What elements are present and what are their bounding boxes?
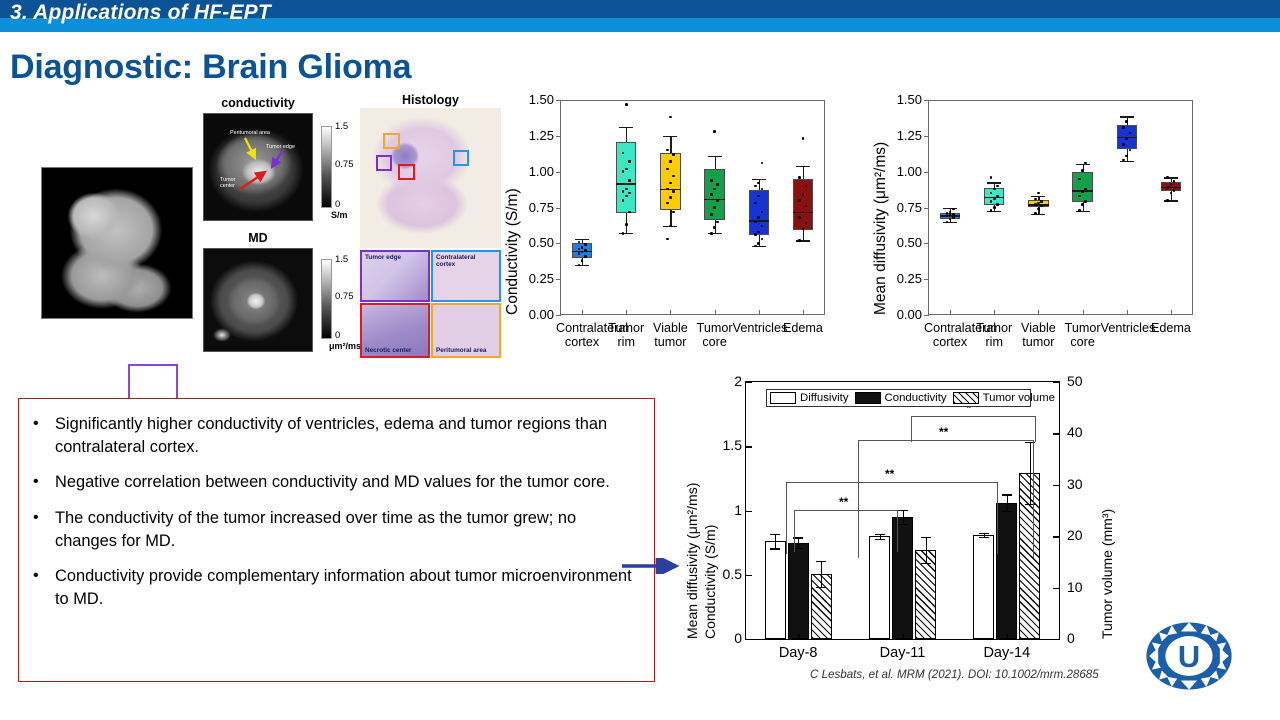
x-axis-tick [803,310,804,315]
y-axis-tick [556,100,561,101]
data-point [710,213,713,216]
bar-y-left-tick [746,446,752,447]
bar-y-right-tick [1053,485,1059,486]
histology-image [360,108,501,248]
md-map-image [203,248,313,352]
t2-weighted-label: T₂ weighted [94,342,157,356]
data-point [757,216,760,219]
box [793,179,813,231]
error-bar-cap [816,587,826,588]
significance-bracket [911,416,1036,442]
data-point [757,231,760,234]
histology-inset-label-tumor-edge: Tumor edge [365,254,401,261]
data-point [1166,176,1169,179]
x-axis-tick [670,310,671,315]
histology-roi-tumor-edge [376,155,392,171]
whisker-cap [1120,161,1134,162]
data-point [625,188,628,191]
data-point [952,213,955,216]
histology-inset-label-necrotic: Necrotic center [365,347,412,354]
median-line [660,189,680,191]
y-axis-tick-label: 1.00 [512,164,554,179]
legend-swatch [855,392,881,404]
y-axis-tick-label: 0.75 [880,200,922,215]
bar-y-left-tick [746,511,752,512]
data-point [952,216,955,219]
error-bar [775,534,776,548]
data-point [622,199,625,202]
longitudinal-bar-chart: 00.511.5201020304050Day-8Day-11Day-14***… [745,381,1060,640]
bar-y-right-label: Tumor volume (mm³) [1099,509,1115,639]
box [704,169,724,221]
plot-frame [560,100,825,315]
data-point [1166,199,1169,202]
histology-inset-contralateral: Contralateral cortex [431,250,501,302]
error-bar-cap [816,561,826,562]
y-axis-tick-label: 1.50 [880,92,922,107]
y-axis-tick-label: 0.00 [880,307,922,322]
x-axis-tick [1038,310,1039,315]
histology-inset-label-peritumoral: Peritumoral area [436,347,486,354]
y-axis-tick-label: 0.50 [880,235,922,250]
y-axis-tick-label: 1.50 [512,92,554,107]
y-axis-tick-label: 0.25 [880,271,922,286]
bar-x-tick-label: Day-14 [955,645,1059,661]
x-axis-tick [582,310,583,315]
legend-label: Diffusivity [800,392,849,404]
data-point [990,209,993,212]
bullet-marker: • [33,413,55,458]
data-point [625,168,628,171]
data-point [672,190,675,193]
whisker-cap [619,127,633,128]
y-axis-tick [556,315,561,316]
key-findings-box: •Significantly higher conductivity of ve… [18,398,655,682]
y-axis-tick [556,208,561,209]
bullet-marker: • [33,471,55,494]
conductivity-colorbar-unit: S/m [331,210,348,220]
bar-y-left-tick-label: 0 [716,630,742,646]
data-point [584,255,587,258]
bar-y-right-tick [1053,536,1059,537]
data-point [1170,183,1173,186]
data-point [716,183,719,186]
data-point [713,188,716,191]
legend-label: Conductivity [885,392,947,404]
data-point [798,216,801,219]
error-bar [821,561,822,587]
y-axis-tick [924,243,929,244]
bar-y-right-tick [1053,639,1059,640]
bar-x-tick-label: Day-8 [746,645,850,661]
data-point [996,203,999,206]
bar-chart-legend: DiffusivityConductivityTumor volume [766,389,1031,407]
median-line [616,183,636,185]
bar-x-tick-label: Day-11 [850,645,954,661]
bar-y-right-tick-label: 20 [1067,527,1083,543]
bar-y-right-tick-label: 30 [1067,476,1083,492]
y-axis-tick-label: 0.50 [512,235,554,250]
legend-item: Tumor volume [953,392,1055,404]
bullet-item: •Negative correlation between conductivi… [33,471,640,494]
y-axis-tick [924,172,929,173]
bullet-text: Negative correlation between conductivit… [55,471,610,494]
md-colorbar [321,259,332,339]
callout-arrow [622,558,690,574]
whisker-cap [943,208,957,209]
data-point [757,242,760,245]
data-point [1081,169,1084,172]
data-point [628,211,631,214]
data-point [578,252,581,255]
data-point [798,176,801,179]
conductivity-map-image: Peritumoral area Tumor edge Tumor center [203,113,313,221]
data-point [669,196,672,199]
data-point [1034,198,1037,201]
y-axis-tick [556,172,561,173]
x-axis-tick-label: Edema [1145,321,1197,335]
data-point [1125,137,1128,140]
data-point [1040,200,1043,203]
box [616,142,636,214]
data-point [754,221,757,224]
data-point [1166,186,1169,189]
data-point [669,160,672,163]
conductivity-colorbar-min: 0 [335,199,340,210]
median-line [749,220,769,222]
svg-text:U: U [1178,639,1200,674]
whisker-cap [987,182,1001,183]
data-point [716,221,719,224]
data-point [1122,143,1125,146]
y-axis-tick-label: 1.25 [880,128,922,143]
bar [788,543,809,639]
data-point [798,199,801,202]
y-axis-tick [556,243,561,244]
y-axis-tick [924,136,929,137]
bullet-marker: • [33,507,55,552]
bar-y-right-tick [1053,382,1059,383]
data-point [628,160,631,163]
bar-y-right-tick [1053,433,1059,434]
bar-y-left-tick [746,382,752,383]
data-point [672,153,675,156]
conductivity-arrows [204,114,314,222]
whisker-cap [1031,196,1045,197]
plot-frame [928,100,1193,315]
data-point [622,232,625,235]
data-point [713,206,716,209]
bullet-marker: • [33,565,55,610]
x-axis-tick [994,310,995,315]
data-point [1078,209,1081,212]
whisker-cap [708,156,722,157]
data-point [1037,208,1040,211]
median-line [1028,204,1048,206]
y-axis-tick [556,136,561,137]
md-panel-caption: MD [203,231,313,245]
bar-x-tick [1007,634,1008,639]
median-line [1161,187,1181,189]
median-line [704,199,724,201]
histology-roi-peritumoral [383,133,400,149]
y-axis-tick-label: 0.00 [512,307,554,322]
bar-y-left-tick-label: 2 [716,373,742,389]
data-point [628,179,631,182]
y-axis-tick-label: 0.75 [512,200,554,215]
conductivity-colorbar-mid: 0.75 [335,159,354,170]
whisker-cap [663,136,677,137]
data-point [1081,190,1084,193]
legend-label: Tumor volume [983,392,1055,404]
bar-y-left-label-line2: Conductivity (S/m) [702,525,718,639]
data-point [1125,120,1128,123]
data-point [1034,203,1037,206]
data-point [625,103,628,106]
whisker-cap [575,239,589,240]
y-axis-tick-label: 0.25 [512,271,554,286]
data-point [754,185,757,188]
bar-y-left-tick-label: 1.5 [716,437,742,453]
x-axis-tick-label: Edema [777,321,829,335]
y-axis-tick [924,100,929,101]
y-axis-tick [924,208,929,209]
data-point [946,212,949,215]
legend-item: Conductivity [855,392,947,404]
histology-roi-necrotic [398,164,415,180]
data-point [710,179,713,182]
bar-y-left-tick-label: 1 [716,502,742,518]
data-point [754,233,757,236]
bar-y-right-tick-label: 10 [1067,579,1083,595]
bar-y-left-label-line1: Mean diffusivity (μm²/ms) [684,483,700,639]
bar-y-left-tick [746,575,752,576]
md-colorbar-unit: μm²/ms [329,341,361,351]
data-point [713,130,716,133]
data-point [666,168,669,171]
bullet-item: •Significantly higher conductivity of ve… [33,413,640,458]
y-axis-tick [924,279,929,280]
data-point [993,206,996,209]
histology-inset-peritumoral: Peritumoral area [431,303,501,358]
x-axis-tick [1083,310,1084,315]
bullet-text: Conductivity provide complementary infor… [55,565,640,610]
bar-x-tick [798,634,799,639]
data-point [993,188,996,191]
bar-y-left-tick-label: 0.5 [716,566,742,582]
histology-inset-necrotic: Necrotic center [360,303,430,358]
data-point [1034,212,1037,215]
bullet-text: The conductivity of the tumor increased … [55,507,640,552]
data-point [1081,203,1084,206]
x-axis-tick [759,310,760,315]
bar-y-right-tick [1053,588,1059,589]
data-point [625,195,628,198]
significance-bracket [858,440,1034,558]
x-axis-tick [626,310,627,315]
error-bar-cap [770,548,780,549]
error-bar-cap [921,563,931,564]
data-point [798,239,801,242]
data-point [802,193,805,196]
whisker-cap [796,166,810,167]
page-title: Diagnostic: Brain Glioma [10,48,411,87]
bullet-text: Significantly higher conductivity of ven… [55,413,640,458]
histology-inset-label-contralateral: Contralateral cortex [436,254,488,268]
data-point [1078,178,1081,181]
data-point [993,198,996,201]
data-point [710,232,713,235]
x-axis-tick [715,310,716,315]
legend-item: Diffusivity [770,392,849,404]
histology-inset-tumor-edge: Tumor edge [360,250,430,302]
bar-x-tick [903,634,904,639]
whisker-cap [1120,116,1134,117]
y-axis-tick [924,315,929,316]
data-point [584,243,587,246]
legend-swatch [953,392,979,404]
md-colorbar-min: 0 [335,330,340,341]
y-axis-tick [556,279,561,280]
whisker-cap [1076,164,1090,165]
y-axis-tick-label: 1.25 [512,128,554,143]
citation-text: C Lesbats, et al. MRM (2021). DOI: 10.10… [810,668,1099,681]
bar-y-right-tick-label: 50 [1067,373,1083,389]
conductivity-colorbar-max: 1.5 [335,121,348,132]
md-colorbar-mid: 0.75 [335,291,354,302]
x-axis-tick [1127,310,1128,315]
y-axis-tick-label: 1.00 [880,164,922,179]
section-header-title: 3. Applications of HF-EPT [10,1,271,25]
histology-roi-contralateral [453,150,469,166]
md-colorbar-max: 1.5 [335,254,348,265]
conductivity-colorbar [321,126,332,208]
conductivity-panel-caption: conductivity [203,96,313,110]
data-point [666,188,669,191]
data-point [952,208,955,211]
data-point [672,211,675,214]
box [1072,172,1092,203]
data-point [716,199,719,202]
x-axis-tick [950,310,951,315]
bullet-item: •Conductivity provide complementary info… [33,565,640,610]
data-point [710,193,713,196]
histology-panel-caption: Histology [360,93,501,107]
bar-y-right-tick-label: 0 [1067,630,1075,646]
t2-weighted-image: T₂ weighted [41,167,193,319]
bar-y-right-tick-label: 40 [1067,424,1083,440]
bar-y-left-tick [746,639,752,640]
data-point [666,238,669,241]
data-point [625,223,628,226]
legend-swatch [770,392,796,404]
bullet-item: •The conductivity of the tumor increased… [33,507,640,552]
data-point [713,226,716,229]
data-point [584,249,587,252]
x-axis-tick [1171,310,1172,315]
error-bar-cap [770,534,780,535]
whisker-cap [752,179,766,180]
data-point [1122,126,1125,129]
university-logo: U [1143,617,1235,695]
bar [765,541,786,639]
